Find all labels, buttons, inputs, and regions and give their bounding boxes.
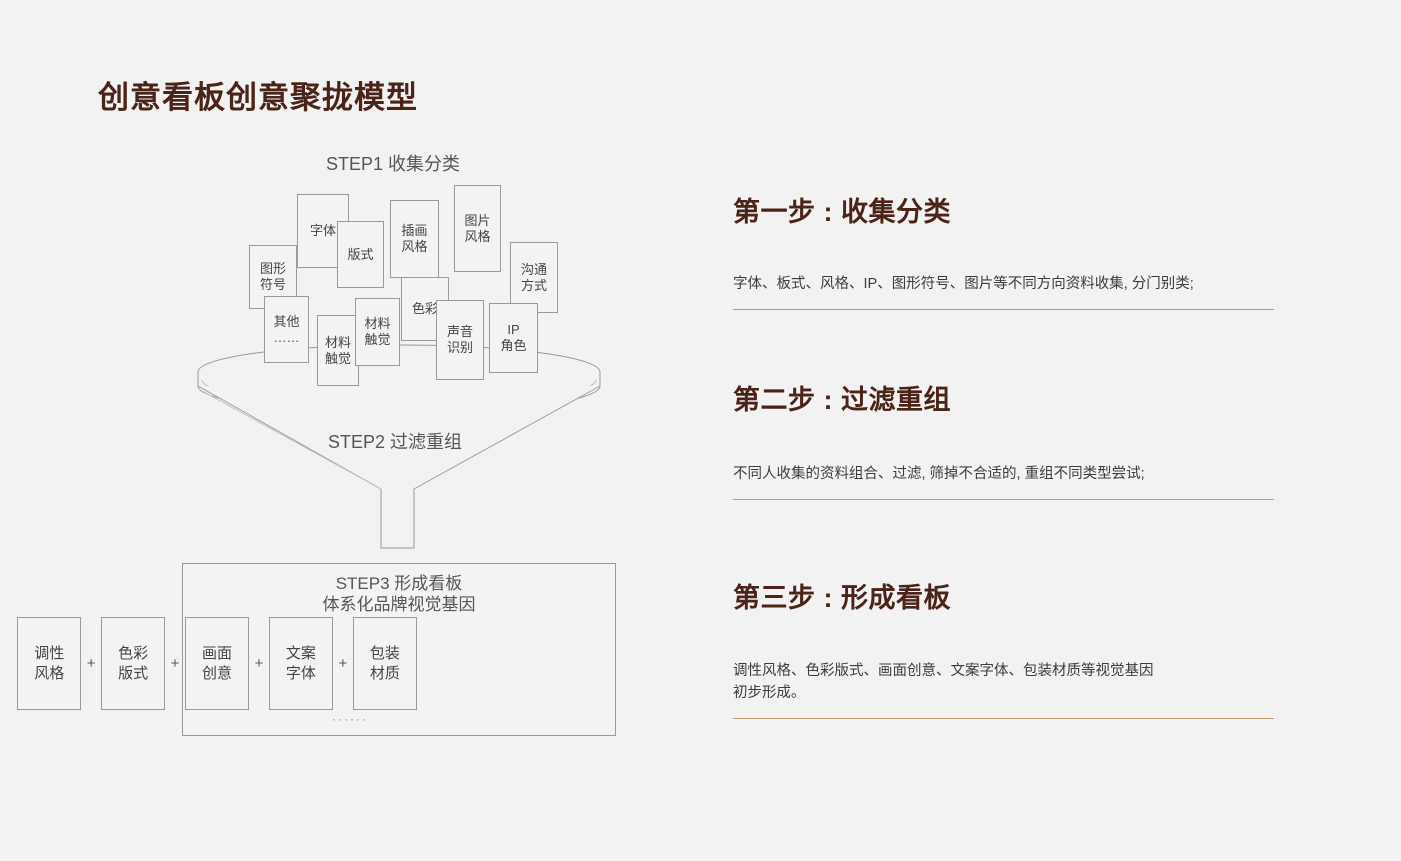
step3-ellipsis: ······ <box>0 712 700 726</box>
step-section-1: 第一步 : 收集分类 字体、板式、风格、IP、图形符号、图片等不同方向资料收集,… <box>733 190 1274 310</box>
step1-label: STEP1 收集分类 <box>0 150 1126 176</box>
step-section-1-title: 第一步 : 收集分类 <box>733 190 1274 229</box>
cluster-card: IP 角色 <box>489 303 538 373</box>
cluster-card: 图片 风格 <box>454 185 501 272</box>
step-section-2-divider <box>733 499 1274 500</box>
step3-title: STEP3 形成看板 体系化品牌视觉基因 <box>183 573 615 615</box>
step-section-2-title: 第二步 : 过滤重组 <box>733 378 1274 417</box>
step-section-1-divider <box>733 309 1274 310</box>
gene-card: 调性 风格 <box>17 617 81 710</box>
gene-plus-separator: + <box>333 655 353 672</box>
gene-card: 画面 创意 <box>185 617 249 710</box>
step-section-1-body: 字体、板式、风格、IP、图形符号、图片等不同方向资料收集, 分门别类; <box>733 229 1274 295</box>
step-section-3-title: 第三步 : 形成看板 <box>733 576 1274 615</box>
step-section-2: 第二步 : 过滤重组 不同人收集的资料组合、过滤, 筛掉不合适的, 重组不同类型… <box>733 378 1274 500</box>
cluster-card: 材料 触觉 <box>317 315 359 386</box>
cluster-card: 插画 风格 <box>390 200 439 278</box>
gene-card: 包装 材质 <box>353 617 417 710</box>
cluster-card: 材料 触觉 <box>355 298 400 366</box>
gene-plus-separator: + <box>249 655 269 672</box>
step-section-2-body: 不同人收集的资料组合、过滤, 筛掉不合适的, 重组不同类型尝试; <box>733 417 1274 485</box>
gene-card: 文案 字体 <box>269 617 333 710</box>
funnel-diagram: STEP1 收集分类 STEP2 过滤重组 图形 符号字体版式插画 风格图片 风… <box>0 0 700 861</box>
gene-card-row: 调性 风格+色彩 版式+画面 创意+文案 字体+包装 材质 <box>17 617 417 710</box>
gene-card: 色彩 版式 <box>101 617 165 710</box>
step-section-3: 第三步 : 形成看板 调性风格、色彩版式、画面创意、文案字体、包装材质等视觉基因… <box>733 576 1274 719</box>
cluster-card: 声音 识别 <box>436 300 484 380</box>
gene-plus-separator: + <box>81 655 101 672</box>
cluster-card: 版式 <box>337 221 384 288</box>
gene-plus-separator: + <box>165 655 185 672</box>
step-section-3-body: 调性风格、色彩版式、画面创意、文案字体、包装材质等视觉基因 初步形成。 <box>733 615 1274 704</box>
funnel-cone <box>198 386 600 548</box>
step2-label: STEP2 过滤重组 <box>328 428 462 454</box>
cluster-card: 其他 …… <box>264 296 309 363</box>
step-section-3-divider <box>733 718 1274 719</box>
